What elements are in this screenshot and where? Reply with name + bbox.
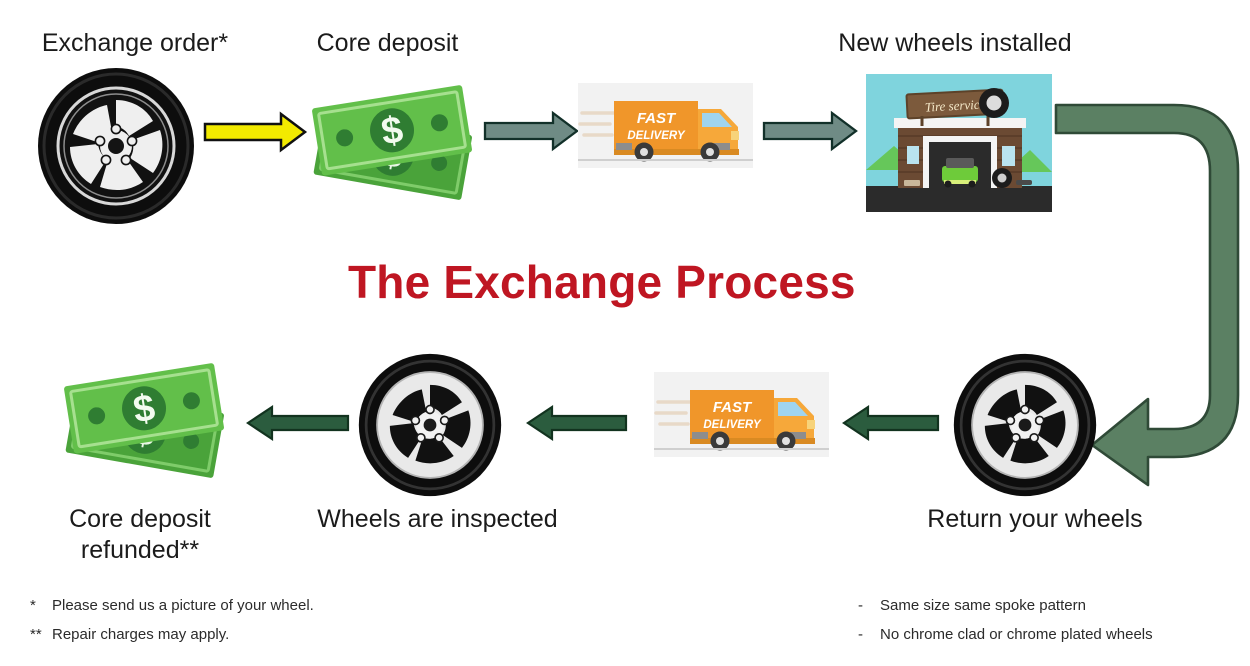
- note-marker: -: [858, 592, 880, 621]
- note-text: Same size same spoke pattern: [880, 597, 1086, 614]
- notes-left: *Please send us a picture of your wheel.…: [30, 592, 314, 649]
- note-marker: -: [858, 621, 880, 650]
- arrow-1-icon: [203, 111, 308, 153]
- step-label-deposit-refunded: Core deposit refunded**: [30, 504, 250, 565]
- arrow-3-icon: [762, 111, 858, 151]
- step-label-new-wheels: New wheels installed: [800, 28, 1110, 59]
- truck-line2: DELIVERY: [627, 130, 686, 142]
- tire-service-shop-icon: Tire service: [866, 74, 1052, 212]
- note-right-row: -Same size same spoke pattern: [858, 592, 1153, 621]
- fast-delivery-truck-icon-top: FAST DELIVERY: [578, 83, 753, 168]
- note-text: No chrome clad or chrome plated wheels: [880, 626, 1153, 643]
- truck-line1: FAST: [637, 110, 677, 127]
- arrow-6-icon: [840, 405, 940, 441]
- notes-right: -Same size same spoke pattern -No chrome…: [858, 592, 1153, 649]
- step-label-exchange-order: Exchange order*: [10, 28, 260, 59]
- money-icon-bottom: $ $: [58, 352, 233, 482]
- note-left-row: **Repair charges may apply.: [30, 621, 314, 650]
- page-title: The Exchange Process: [348, 255, 856, 309]
- arrow-5-icon: [524, 405, 628, 441]
- shop-sign-label: Tire service: [924, 96, 985, 114]
- note-left-row: *Please send us a picture of your wheel.: [30, 592, 314, 621]
- wheel-dark-icon: [36, 66, 196, 226]
- truck-line1: FAST: [713, 399, 753, 416]
- wheel-light-icon-inspected: [357, 352, 503, 498]
- fast-delivery-truck-icon-bottom: FAST DELIVERY: [654, 372, 829, 457]
- wheel-light-icon-return: [952, 352, 1098, 498]
- note-right-row: -No chrome clad or chrome plated wheels: [858, 621, 1153, 650]
- money-icon-top: $ $: [306, 74, 481, 204]
- step-label-return-wheels: Return your wheels: [880, 504, 1190, 535]
- note-text: Repair charges may apply.: [52, 626, 229, 643]
- arrow-4-icon: [244, 405, 350, 441]
- truck-line2: DELIVERY: [703, 419, 762, 431]
- note-text: Please send us a picture of your wheel.: [52, 597, 314, 614]
- note-marker: **: [30, 621, 52, 650]
- step-label-core-deposit: Core deposit: [285, 28, 490, 59]
- note-marker: *: [30, 592, 52, 621]
- arrow-2-icon: [483, 111, 579, 151]
- step-label-wheels-inspected: Wheels are inspected: [285, 504, 590, 535]
